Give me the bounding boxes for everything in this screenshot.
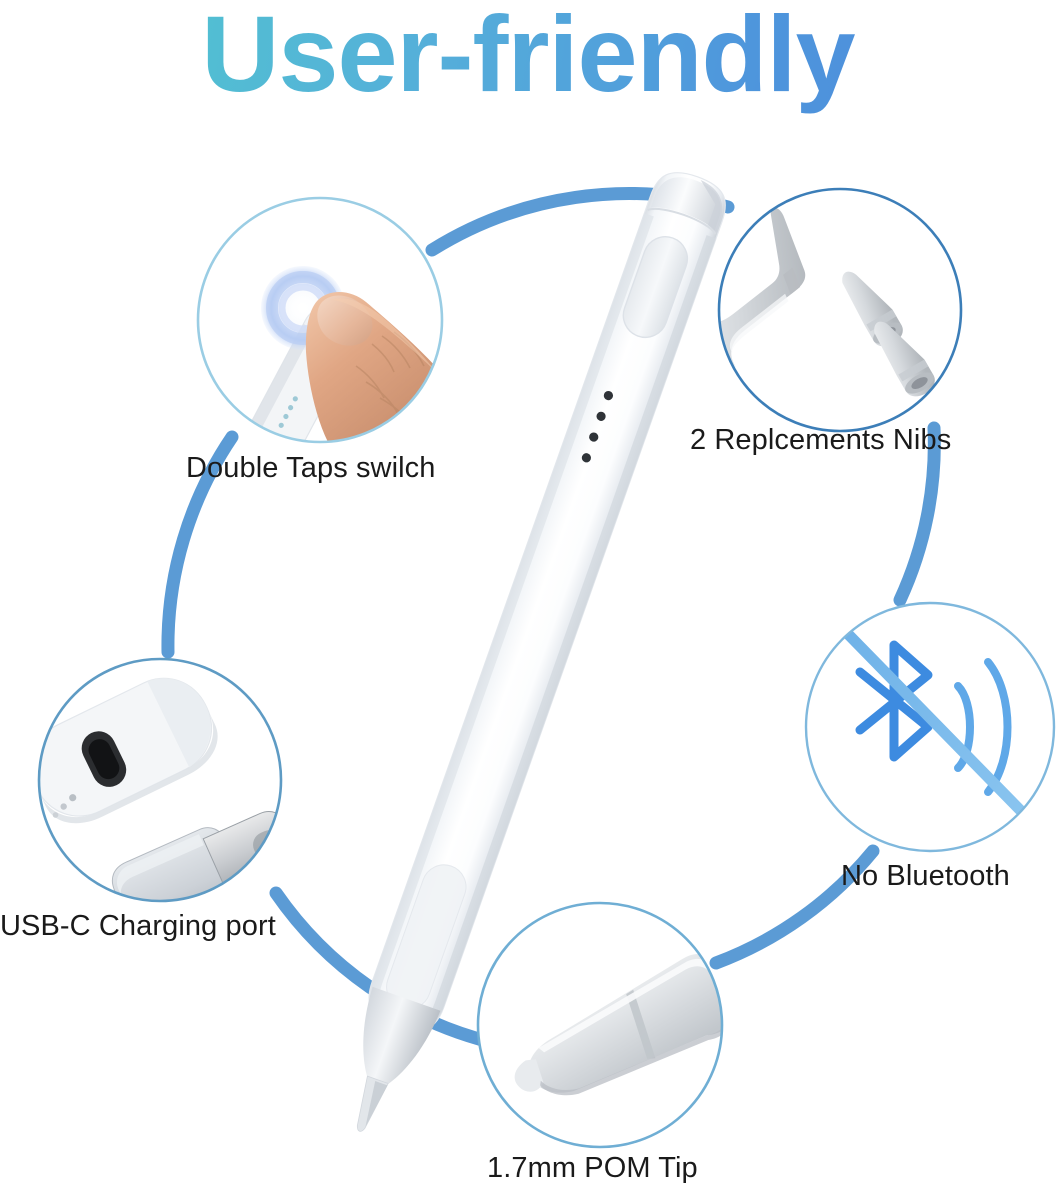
infographic-page: User-friendly — [0, 0, 1056, 1200]
callout-circles-layer — [0, 0, 1056, 1200]
callout-label-no-bluetooth: No Bluetooth — [841, 860, 1010, 893]
callout-no-bluetooth[interactable] — [806, 603, 1054, 851]
callout-label-usb-c-port: USB-C Charging port — [0, 910, 276, 943]
callout-label-pom-tip: 1.7mm POM Tip — [487, 1152, 698, 1185]
callout-replacement-nibs[interactable] — [673, 189, 961, 431]
callout-usb-c-port[interactable] — [16, 659, 307, 946]
callout-pom-tip[interactable] — [478, 903, 737, 1147]
callout-label-replacement-nibs: 2 Replcements Nibs — [690, 424, 951, 457]
callout-label-double-taps: Double Taps swilch — [186, 452, 436, 485]
